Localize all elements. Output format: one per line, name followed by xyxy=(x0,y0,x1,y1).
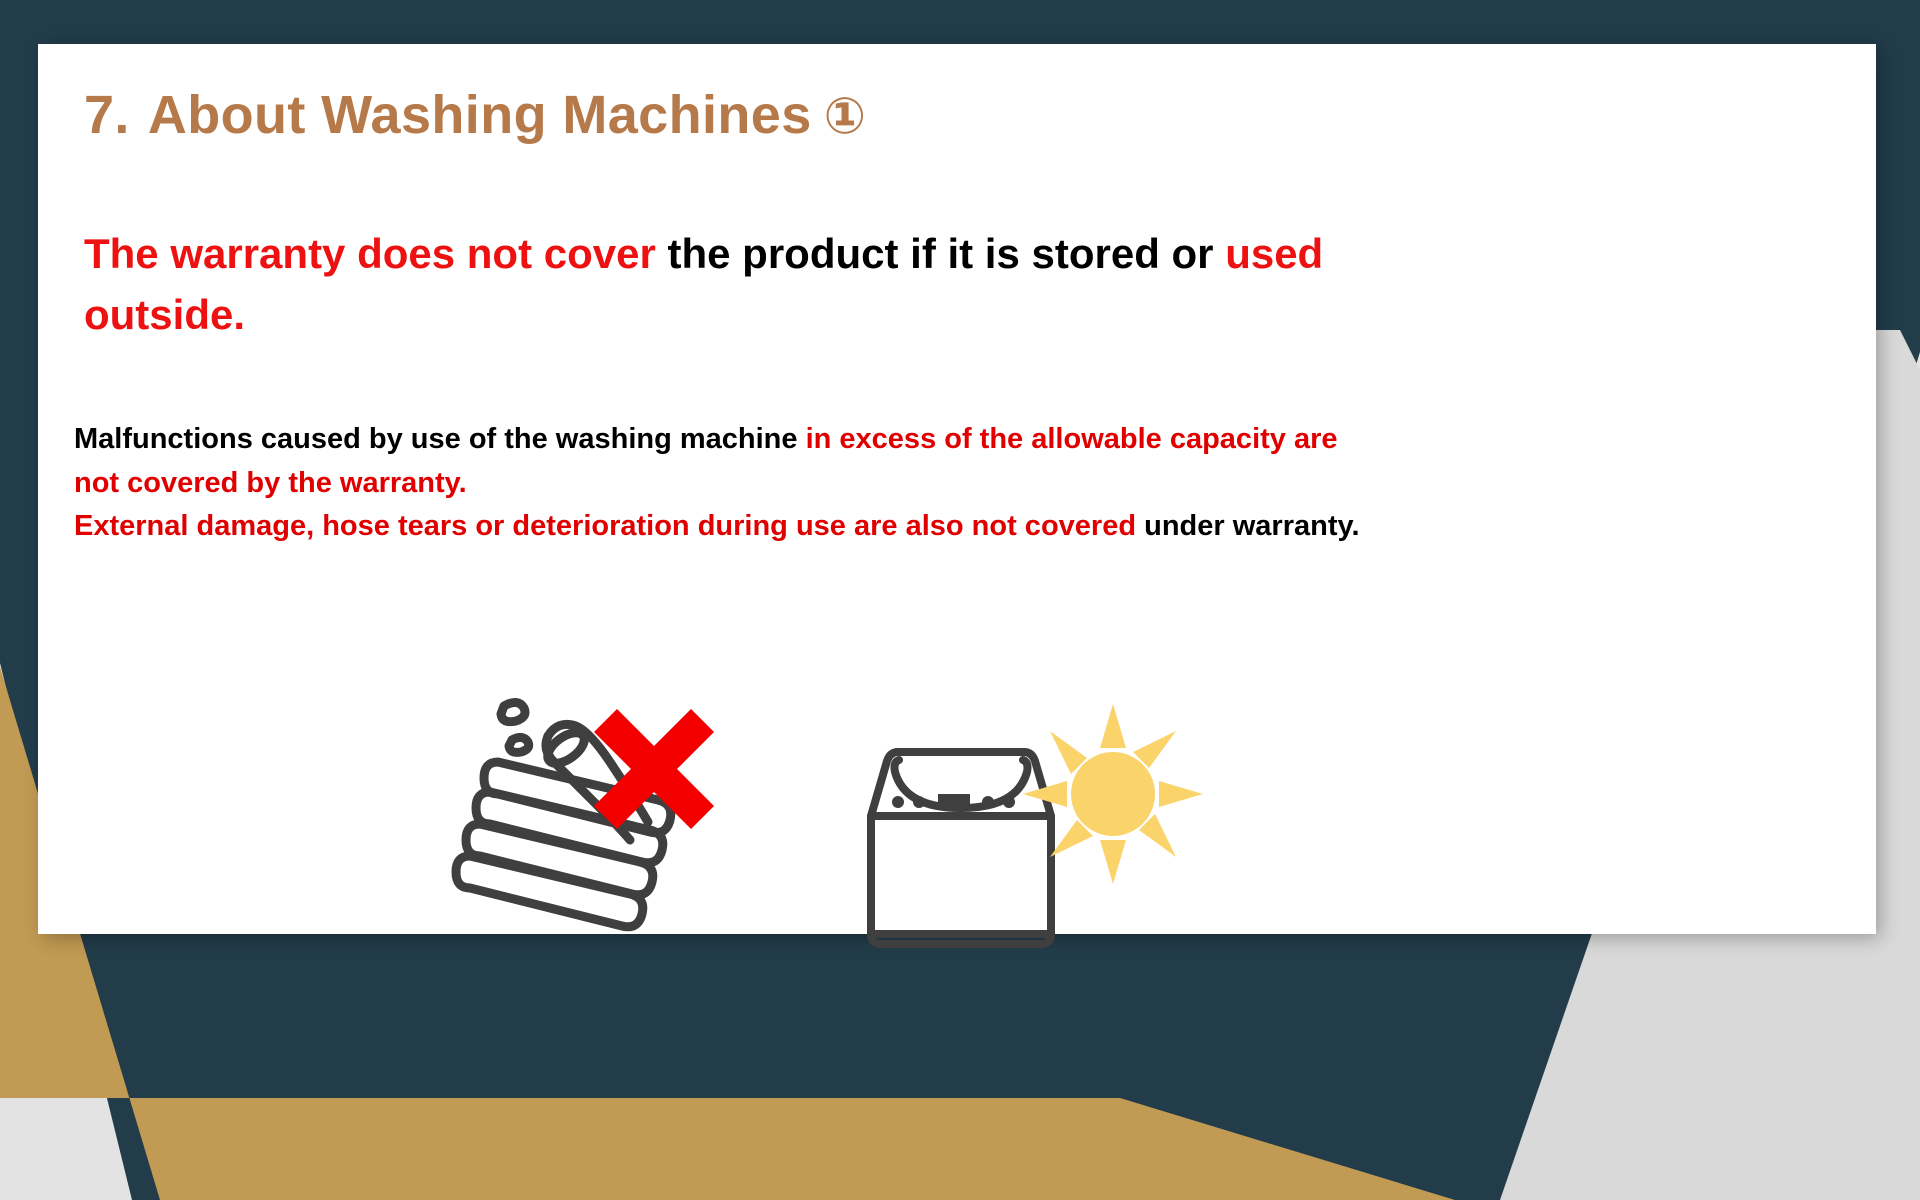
headline-warning-red: The warranty does not cover xyxy=(84,230,656,277)
body-line-2: not covered by the warranty. xyxy=(74,462,1524,506)
page-title-number: 7. xyxy=(84,85,130,145)
body-line-1-red: in excess of the allowable capacity are xyxy=(806,423,1338,455)
body-line-3-black: under warranty. xyxy=(1136,510,1359,542)
body-line-3-red: External damage, hose tears or deteriora… xyxy=(74,510,1136,542)
lint-fleck-2 xyxy=(509,737,529,752)
sun-disc xyxy=(1071,752,1155,836)
body-line-2-red: not covered by the warranty. xyxy=(74,467,467,499)
washer-knob-2 xyxy=(913,796,925,808)
washer-knob-4 xyxy=(1003,796,1015,808)
slide-canvas: 7.About Washing Machines① The warranty d… xyxy=(0,0,1920,1200)
body-line-3: External damage, hose tears or deteriora… xyxy=(74,505,1524,549)
sun-icon xyxy=(1023,704,1203,884)
body-paragraph: Malfunctions caused by use of the washin… xyxy=(74,418,1524,549)
lint-fleck-1 xyxy=(501,702,525,721)
body-line-1-black: Malfunctions caused by use of the washin… xyxy=(74,423,806,455)
washer-knob-1 xyxy=(892,796,904,808)
red-cross-icon xyxy=(594,709,714,829)
page-title: 7.About Washing Machines① xyxy=(84,84,866,146)
headline: The warranty does not cover the product … xyxy=(84,224,1404,346)
washer-knob-3 xyxy=(982,796,994,808)
towel-layer-4 xyxy=(456,856,643,927)
page-title-circled-marker: ① xyxy=(824,87,867,145)
body-line-1: Malfunctions caused by use of the washin… xyxy=(74,418,1524,462)
washer-display xyxy=(938,794,970,810)
content-card: 7.About Washing Machines① The warranty d… xyxy=(38,44,1876,934)
page-title-text: About Washing Machines xyxy=(148,85,812,145)
headline-middle-black: the product if it is stored or xyxy=(656,230,1225,277)
cross-shape xyxy=(594,709,714,829)
